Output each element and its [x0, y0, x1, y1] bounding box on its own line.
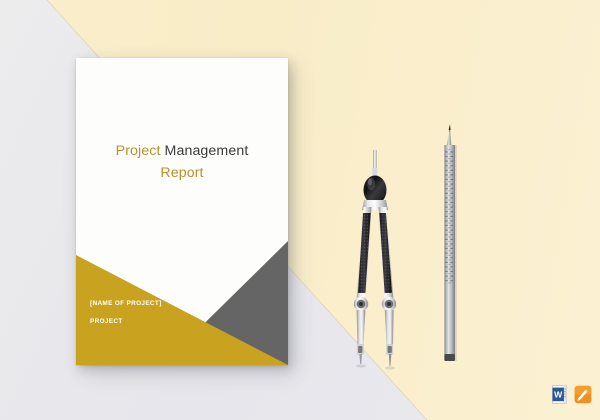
cover-title: Project Management Report — [76, 140, 288, 184]
drawing-compass-icon — [330, 150, 420, 375]
screenshot-canvas: Project Management Report [NAME OF PROJE… — [0, 0, 600, 420]
document-cover-page[interactable]: Project Management Report [NAME OF PROJE… — [76, 58, 288, 365]
ms-word-icon[interactable]: W — [552, 385, 570, 404]
file-format-icons: W — [552, 385, 592, 404]
cover-footer-text: [NAME OF PROJECT] PROJECT — [90, 301, 162, 325]
graphite-pencil-icon — [425, 118, 475, 373]
cover-footer-project-label: PROJECT — [90, 319, 162, 325]
cover-title-word-report: Report — [76, 162, 288, 184]
cover-footer-project-name: [NAME OF PROJECT] — [90, 301, 162, 307]
cover-title-word-project: Project — [116, 143, 161, 159]
ms-word-icon-letter: W — [554, 389, 563, 399]
cover-title-word-management: Management — [165, 143, 249, 159]
apple-pages-icon[interactable] — [574, 385, 592, 404]
